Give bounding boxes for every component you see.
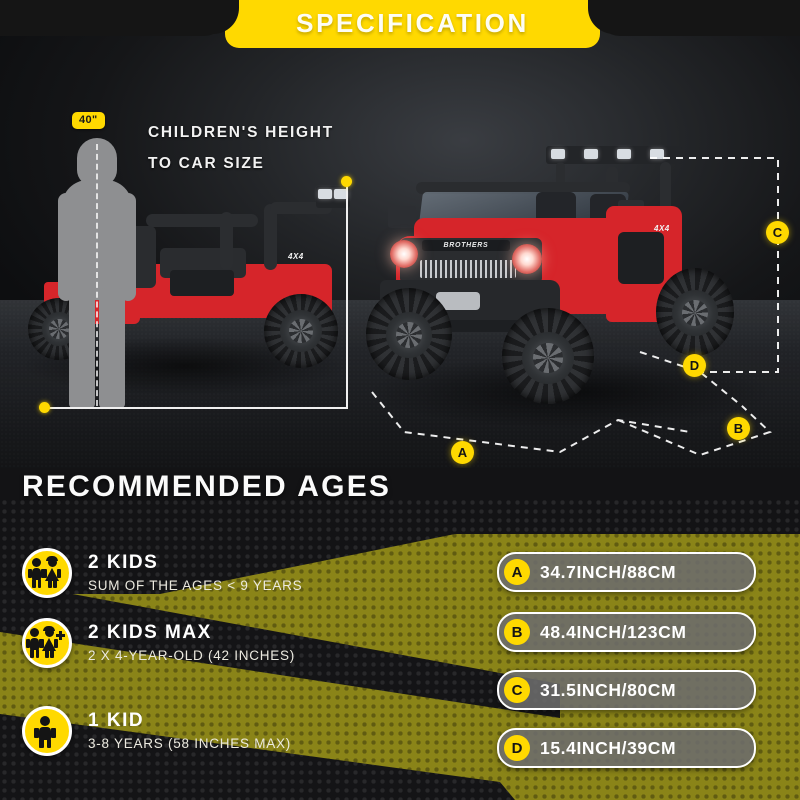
dimension-value-a: 34.7INCH/88CM [540, 562, 676, 583]
dimension-value-c: 31.5INCH/80CM [540, 680, 676, 701]
header-bar-right [598, 0, 800, 36]
plus-icon-vertical [59, 631, 62, 640]
dimension-value-d: 15.4INCH/39CM [540, 738, 676, 759]
dimension-badge-a: A [504, 559, 530, 585]
dimension-badge-d: D [504, 735, 530, 761]
age-row-subtitle: 2 X 4-YEAR-OLD (42 INCHES) [88, 646, 295, 665]
recommended-ages-title: RECOMMENDED AGES [22, 470, 391, 504]
dimension-pill-a: A 34.7INCH/88CM [497, 552, 756, 592]
header-bar-left [0, 0, 226, 36]
age-row-title: 2 KIDS [88, 552, 302, 574]
page-title: SPECIFICATION [225, 8, 600, 39]
callout-marker-c: C [766, 221, 789, 244]
age-row-title: 1 KID [88, 710, 291, 732]
callout-marker-d: D [683, 354, 706, 377]
dimension-pill-d: D 15.4INCH/39CM [497, 728, 756, 768]
dimension-callout-lines [0, 0, 800, 468]
age-row-one-kid: 1 KID 3-8 YEARS (58 INCHES MAX) [22, 706, 291, 756]
specification-infographic: 4X4 [0, 0, 800, 800]
two-kids-icon [22, 548, 72, 598]
age-row-two-kids: 2 KIDS SUM OF THE AGES < 9 YEARS [22, 548, 302, 598]
one-kid-icon [22, 706, 72, 756]
callout-marker-b: B [727, 417, 750, 440]
age-row-subtitle: 3-8 YEARS (58 INCHES MAX) [88, 734, 291, 753]
dimension-pill-b: B 48.4INCH/123CM [497, 612, 756, 652]
age-row-title: 2 KIDS MAX [88, 622, 295, 644]
callout-marker-a: A [451, 441, 474, 464]
dimension-badge-c: C [504, 677, 530, 703]
age-row-subtitle: SUM OF THE AGES < 9 YEARS [88, 576, 302, 595]
age-row-two-kids-max: 2 KIDS MAX 2 X 4-YEAR-OLD (42 INCHES) [22, 618, 295, 668]
specification-header-tab: SPECIFICATION [225, 0, 600, 48]
two-kids-max-icon [22, 618, 72, 668]
dimension-pill-c: C 31.5INCH/80CM [497, 670, 756, 710]
vehicle-photo-area: 4X4 [0, 0, 800, 468]
dimension-badge-b: B [504, 619, 530, 645]
dimension-value-b: 48.4INCH/123CM [540, 622, 687, 643]
